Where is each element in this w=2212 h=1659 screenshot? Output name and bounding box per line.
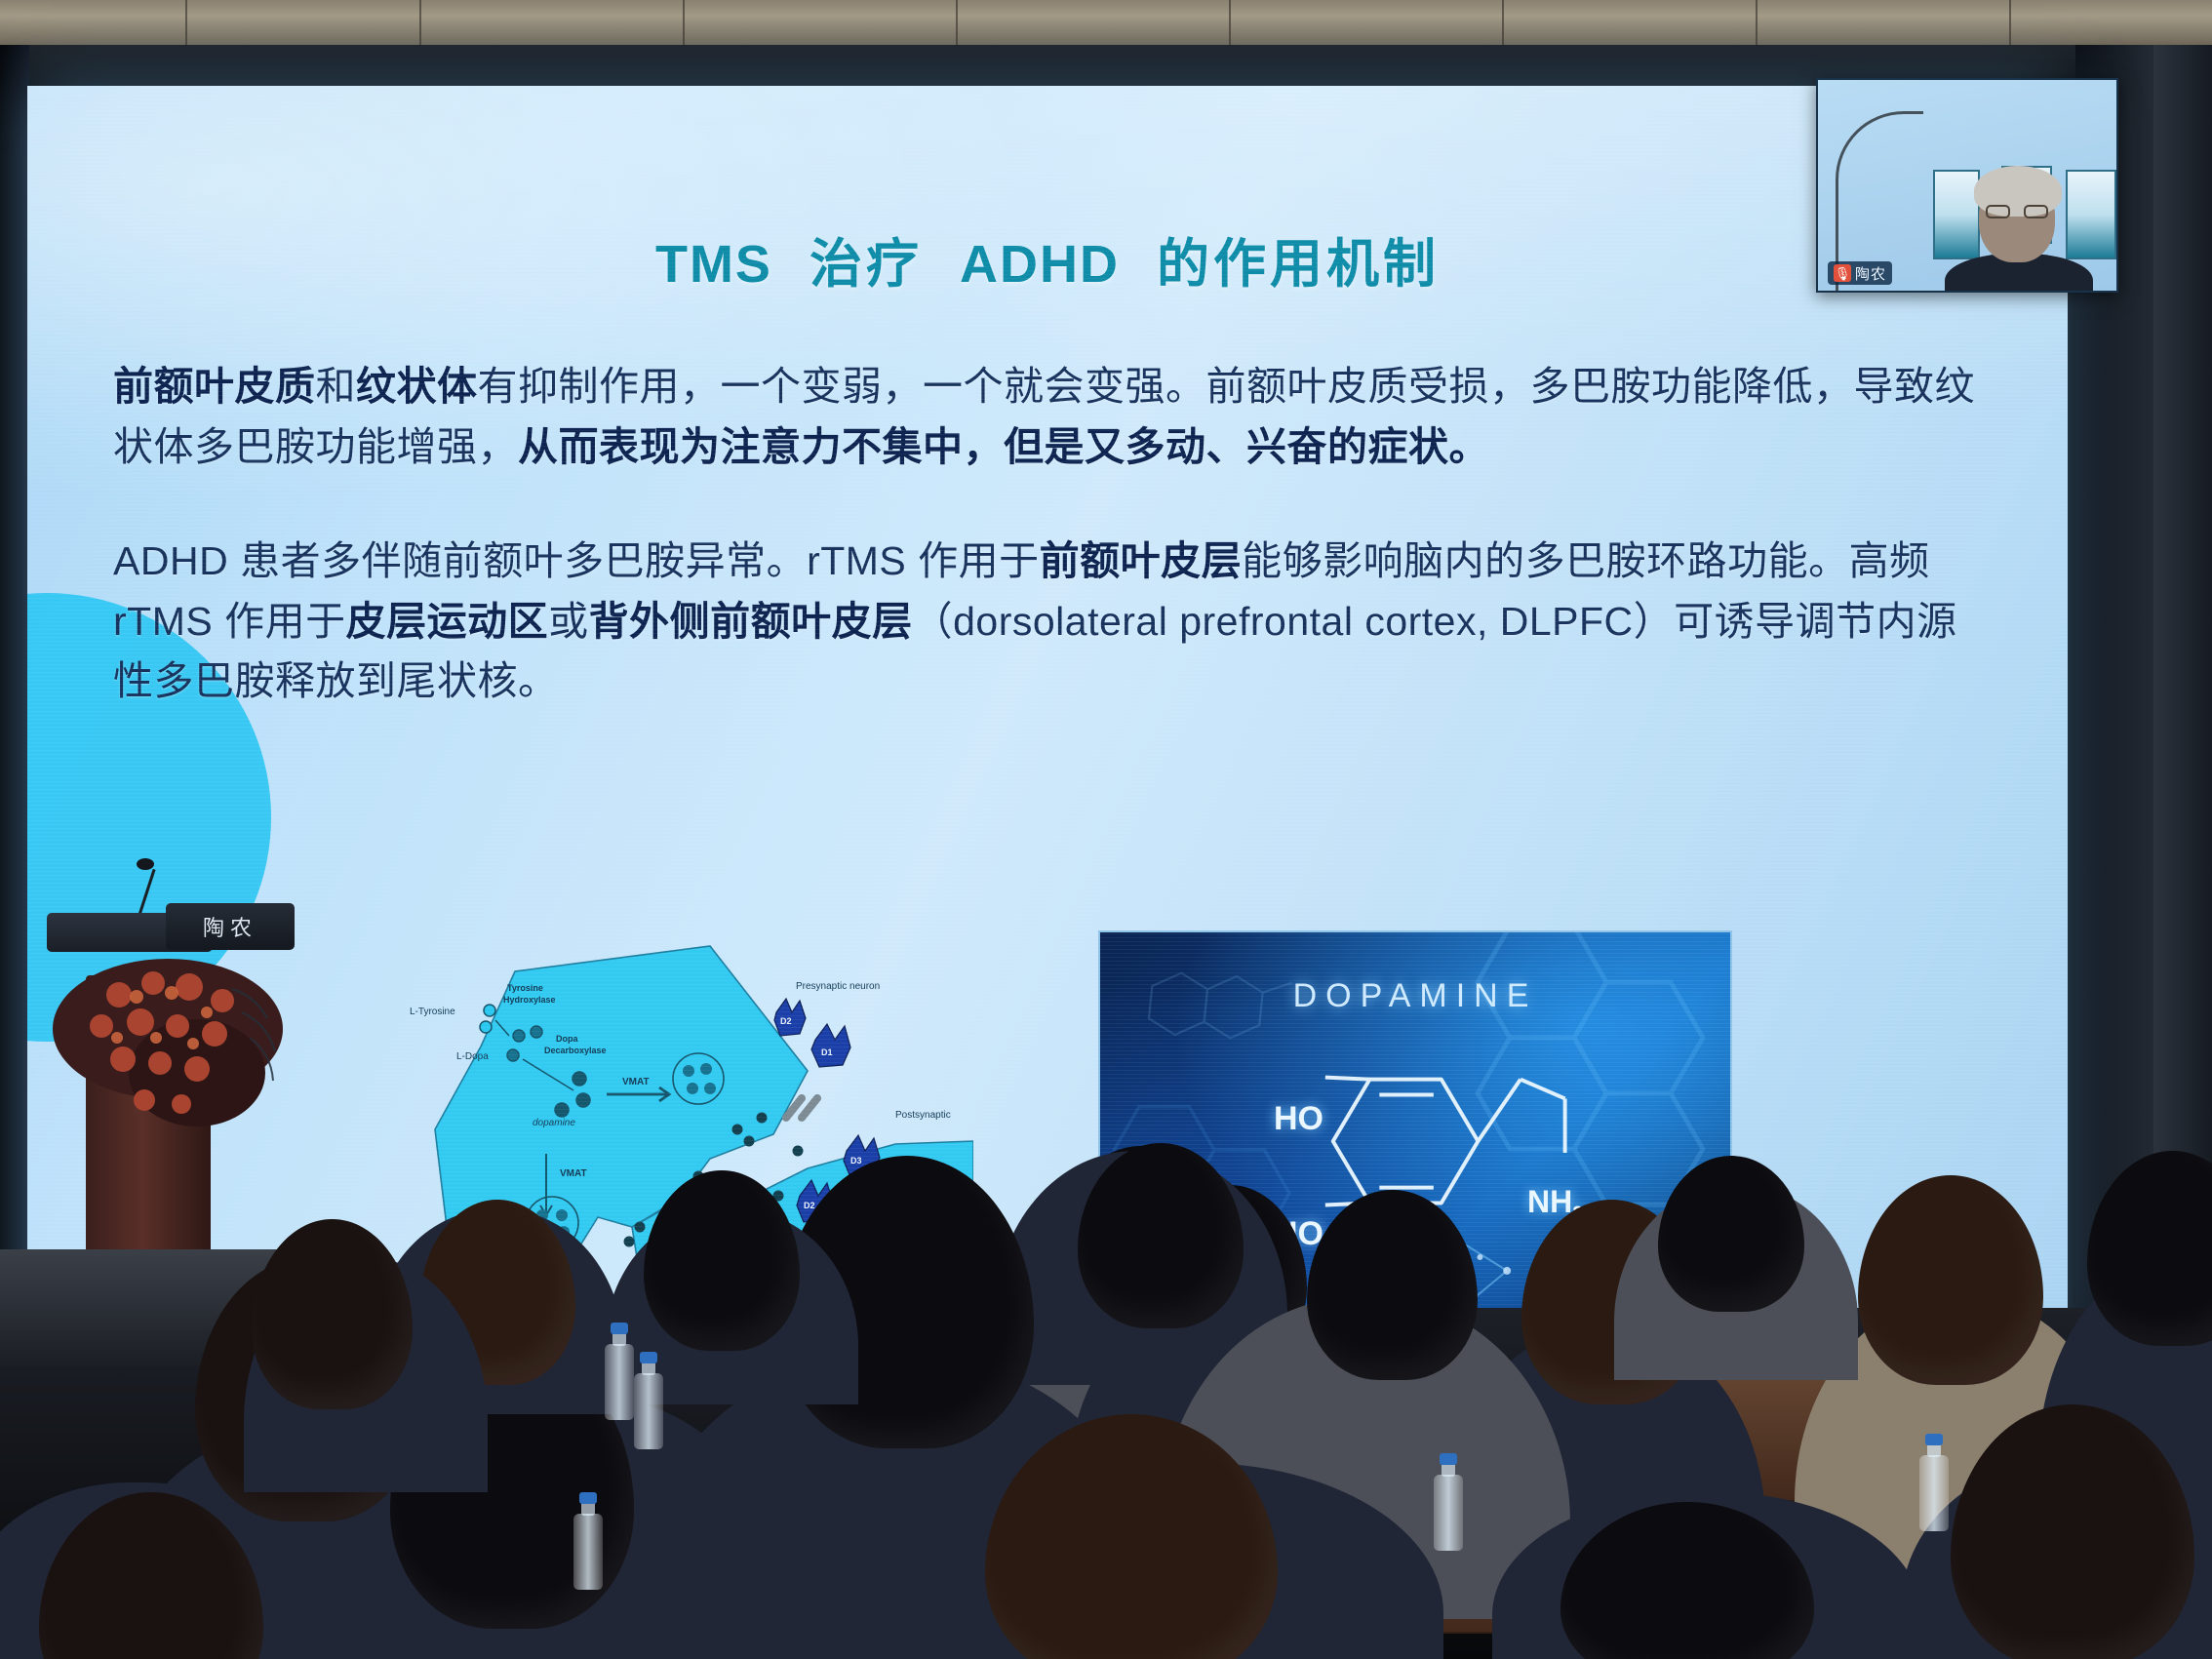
p2-plain-a: ADHD 患者多伴随前额叶多巴胺异常。rTMS 作用于 bbox=[113, 538, 1040, 583]
flower-arrangement bbox=[51, 936, 295, 1141]
slide-title-cn2: 的作用机制 bbox=[1157, 235, 1440, 294]
slide-title-cn1: 治疗 bbox=[810, 235, 923, 294]
slide-title-tms: TMS bbox=[655, 235, 772, 294]
p1-bold-c: 从而表现为注意力不集中，但是又多动、兴奋的症状。 bbox=[518, 424, 1489, 469]
svg-text:VMAT: VMAT bbox=[622, 1077, 650, 1087]
mol-label-ho-top: HO bbox=[1274, 1100, 1323, 1138]
glasses-icon bbox=[1986, 205, 2048, 218]
slide-paragraph-1: 前额叶皮质和纹状体有抑制作用，一个变弱，一个就会变强。前额叶皮质受损，多巴胺功能… bbox=[113, 357, 1980, 477]
participant-name: 陶农 bbox=[1855, 263, 1886, 284]
slide-title: TMS 治疗 ADHD 的作用机制 bbox=[27, 220, 2068, 297]
svg-text:L-Dopa: L-Dopa bbox=[456, 1051, 489, 1062]
wall-art bbox=[1933, 170, 1980, 259]
p1-plain-a: 和 bbox=[316, 364, 357, 409]
p2-bold-a: 前额叶皮层 bbox=[1040, 538, 1243, 583]
svg-text:D1: D1 bbox=[821, 1047, 833, 1057]
wall-left bbox=[0, 45, 29, 1313]
slide-body: 前额叶皮质和纹状体有抑制作用，一个变弱，一个就会变强。前额叶皮质受损，多巴胺功能… bbox=[113, 357, 1980, 712]
p2-plain-c: 或 bbox=[548, 599, 589, 644]
svg-text:D2: D2 bbox=[804, 1201, 815, 1210]
svg-text:D2: D2 bbox=[780, 1016, 792, 1026]
ceiling-band bbox=[0, 0, 2212, 45]
water-bottle bbox=[1434, 1475, 1463, 1551]
p1-bold-a: 前额叶皮质 bbox=[113, 364, 316, 409]
svg-text:Tyrosine: Tyrosine bbox=[507, 983, 543, 993]
svg-text:Hydroxylase: Hydroxylase bbox=[503, 995, 556, 1005]
p2-bold-c: 背外侧前额叶皮层 bbox=[589, 599, 913, 644]
svg-text:Postsynaptic: Postsynaptic bbox=[895, 1110, 951, 1121]
svg-text:Presynaptic neuron: Presynaptic neuron bbox=[796, 981, 880, 992]
slide-paragraph-2: ADHD 患者多伴随前额叶多巴胺异常。rTMS 作用于前额叶皮层能够影响脑内的多… bbox=[113, 532, 1980, 712]
svg-text:Dopa: Dopa bbox=[556, 1034, 578, 1044]
svg-text:VMAT: VMAT bbox=[560, 1168, 587, 1179]
svg-text:Decarboxylase: Decarboxylase bbox=[544, 1046, 607, 1055]
p2-bold-b: 皮层运动区 bbox=[346, 599, 549, 644]
participant-badge: 🎙 陶农 bbox=[1828, 261, 1892, 285]
water-bottle bbox=[634, 1373, 663, 1449]
p1-bold-b: 纹状体 bbox=[356, 364, 478, 409]
svg-text:L-Tyrosine: L-Tyrosine bbox=[410, 1007, 455, 1017]
microphone-muted-icon: 🎙 bbox=[1834, 264, 1851, 282]
svg-text:dopamine: dopamine bbox=[533, 1118, 575, 1128]
wall-art bbox=[2066, 170, 2116, 259]
svg-text:D3: D3 bbox=[850, 1156, 862, 1165]
water-bottle bbox=[573, 1514, 603, 1590]
lectern-microphone-icon bbox=[137, 858, 154, 870]
slide-title-adhd: ADHD bbox=[960, 235, 1120, 294]
water-bottle bbox=[605, 1344, 634, 1420]
water-bottle bbox=[1919, 1455, 1949, 1531]
conference-photo: TMS 治疗 ADHD 的作用机制 前额叶皮质和纹状体有抑制作用，一个变弱，一个… bbox=[0, 0, 2212, 1659]
presenter-video-thumbnail[interactable]: 🎙 陶农 bbox=[1816, 78, 2118, 293]
